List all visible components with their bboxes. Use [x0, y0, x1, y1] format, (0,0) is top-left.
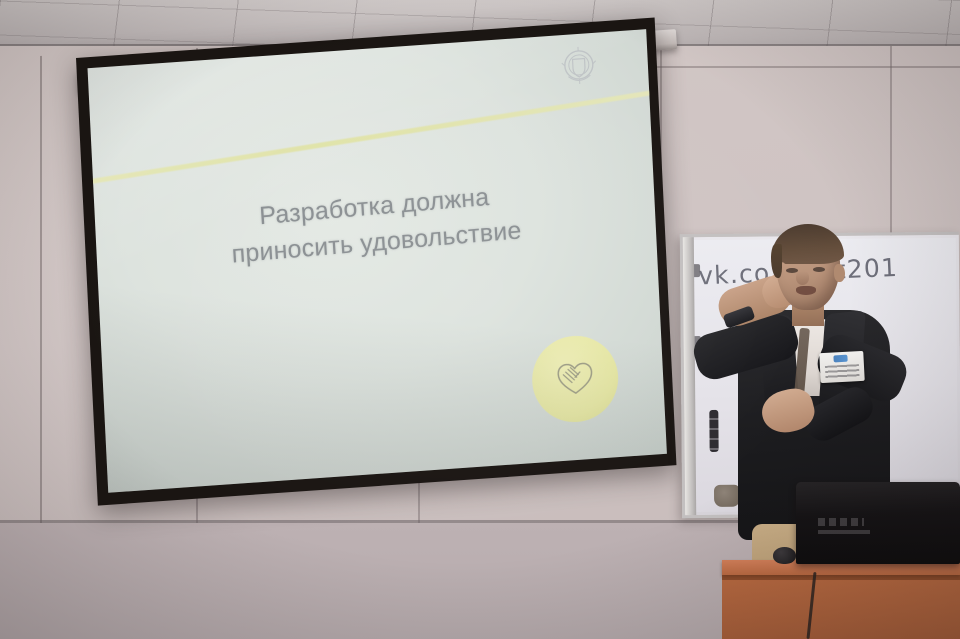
- university-crest-icon: [557, 43, 601, 92]
- laptop-brand-logo: [818, 518, 864, 526]
- slide-badge-circle: [530, 333, 620, 425]
- badge-text-lines: [825, 364, 860, 379]
- projection-screen-frame: Разработка должна приносить удовольствие: [76, 18, 676, 506]
- speaker-ear: [834, 264, 845, 282]
- badge-logo-icon: [833, 355, 847, 363]
- speaker-mouth: [796, 286, 816, 295]
- projection-screen-surface: Разработка должна приносить удовольствие: [88, 29, 667, 493]
- table-edge-shadow: [722, 575, 960, 580]
- heart-handshake-icon: [554, 358, 596, 399]
- speaker-eye-right: [813, 267, 825, 272]
- presentation-photo-scene: Разработка должна приносить удовольствие…: [0, 0, 960, 639]
- speaker-eye-left: [786, 268, 798, 273]
- speaker-hair-sideburn: [771, 244, 782, 278]
- laptop[interactable]: [796, 482, 960, 564]
- speaker-nose: [796, 271, 809, 285]
- computer-mouse[interactable]: [773, 547, 796, 564]
- laptop-brand-subtext: [818, 530, 870, 534]
- speaker-hair: [772, 224, 844, 264]
- slide-title: Разработка должна приносить удовольствие: [94, 165, 657, 284]
- name-badge: [819, 351, 865, 383]
